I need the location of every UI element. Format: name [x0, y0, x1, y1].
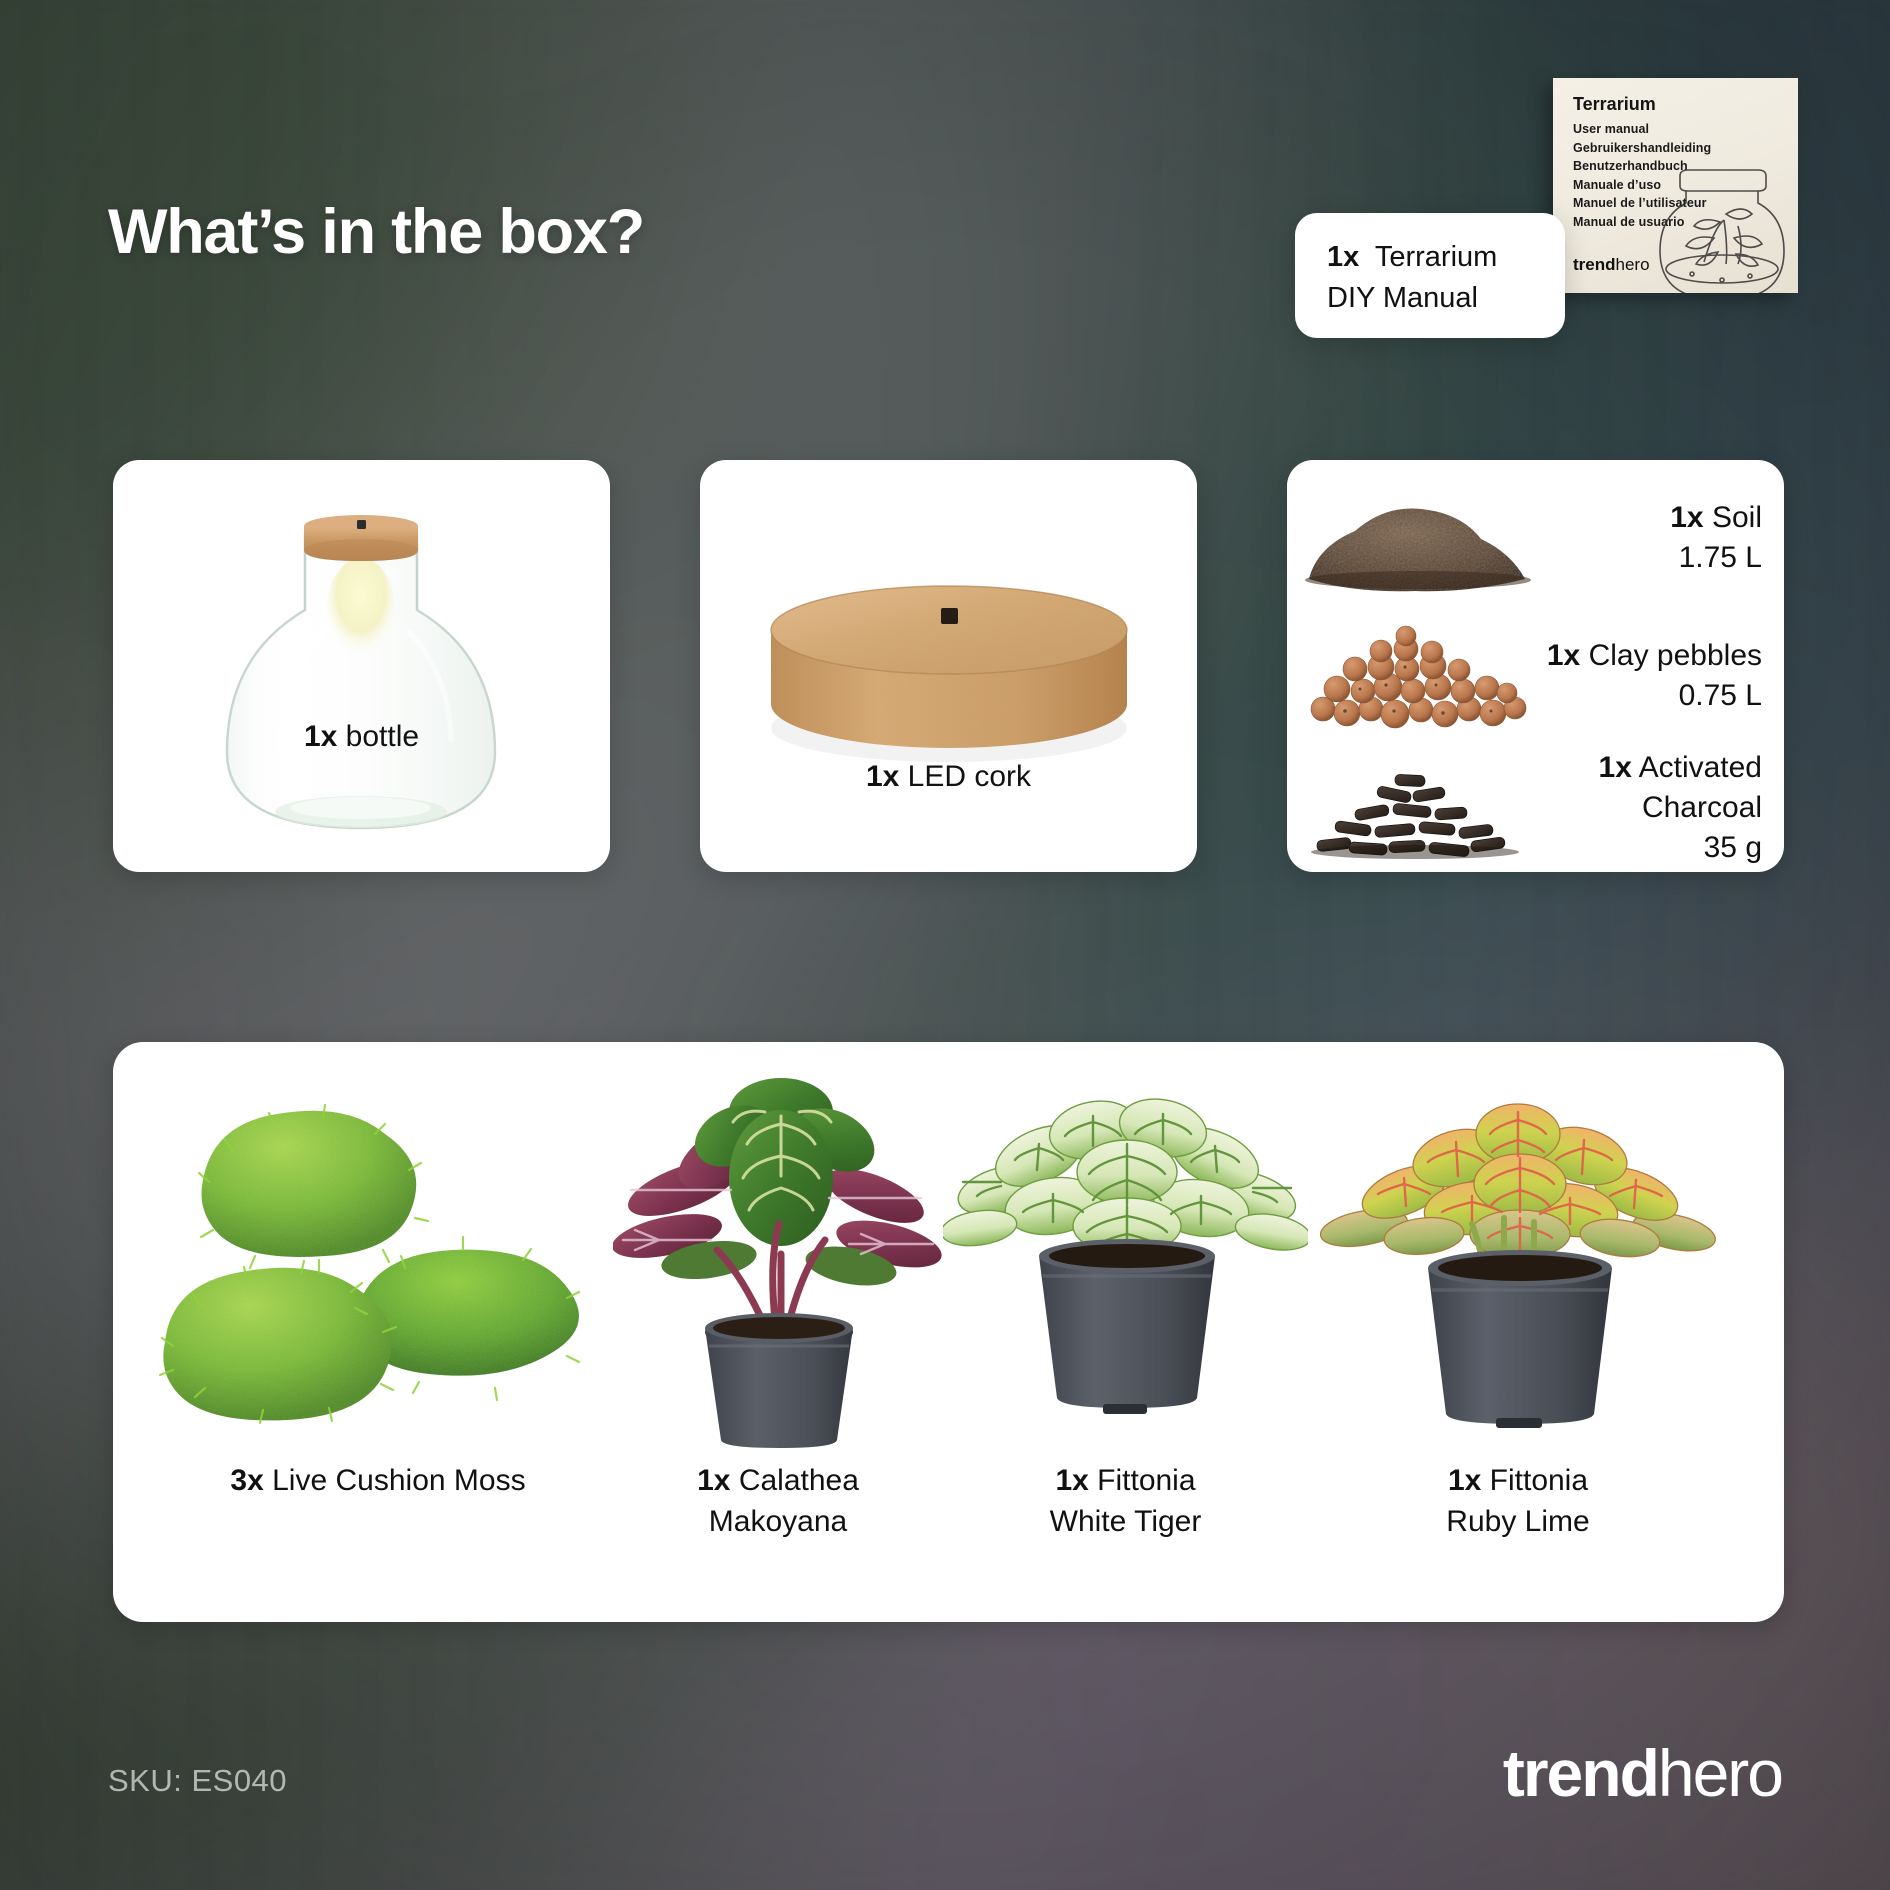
clay-name: Clay pebbles: [1589, 639, 1762, 672]
media-row: 1x Soil 1.75 L: [1287, 474, 1784, 602]
fittonia-white-name-line1: Fittonia: [1097, 1464, 1195, 1497]
media-row: 1x Clay pebbles 0.75 L: [1287, 606, 1784, 746]
soil-qty: 1x: [1670, 501, 1703, 534]
led-cork-card: 1x LED cork: [700, 460, 1197, 872]
bottle-label: 1x bottle: [113, 716, 610, 758]
led-cork-qty: 1x: [866, 760, 899, 793]
infographic-canvas: What’s in the box? Terrarium User manual…: [0, 0, 1890, 1890]
soil-label: 1x Soil 1.75 L: [1543, 498, 1784, 578]
manual-label: 1x Terrarium DIY Manual: [1327, 237, 1497, 319]
brand-logo-light: hero: [1658, 1736, 1782, 1810]
soil-amount: 1.75 L: [1543, 538, 1762, 578]
plant-item-fittonia-ruby: 1x Fittonia Ruby Lime: [1308, 1042, 1728, 1622]
booklet-brand-bold: trend: [1573, 255, 1616, 274]
growing-media-card: 1x Soil 1.75 L: [1287, 460, 1784, 872]
fittonia-ruby-name-line1: Fittonia: [1490, 1464, 1588, 1497]
booklet-title: Terrarium: [1573, 94, 1656, 115]
clay-pebbles-icon: [1293, 621, 1543, 731]
booklet-brand-logo: trendhero: [1573, 255, 1650, 275]
manual-label-card: 1x Terrarium DIY Manual: [1295, 213, 1565, 338]
fittonia-ruby-qty: 1x: [1448, 1464, 1481, 1497]
bottle-qty: 1x: [304, 720, 337, 753]
calathea-icon: [613, 1060, 943, 1450]
charcoal-qty: 1x: [1599, 751, 1632, 784]
fittonia-white-qty: 1x: [1055, 1464, 1088, 1497]
moss-name: Live Cushion Moss: [272, 1464, 525, 1497]
moss-icon: [143, 1060, 613, 1450]
plant-item-fittonia-white: 1x Fittonia White Tiger: [943, 1042, 1308, 1622]
plants-card: 3x Live Cushion Moss: [113, 1042, 1784, 1622]
led-cork-name: LED cork: [908, 760, 1031, 793]
fittonia-white-name-line2: White Tiger: [943, 1501, 1308, 1542]
clay-amount: 0.75 L: [1543, 676, 1762, 716]
terrarium-jar-line-art-icon: [1642, 134, 1798, 293]
led-cork-icon: [700, 460, 1197, 872]
calathea-label: 1x Calathea Makoyana: [613, 1460, 943, 1543]
calathea-name-line1: Calathea: [739, 1464, 859, 1497]
moss-qty: 3x: [230, 1464, 263, 1497]
clay-qty: 1x: [1547, 639, 1580, 672]
bottle-card: 1x bottle: [113, 460, 610, 872]
fittonia-ruby-icon: [1308, 1060, 1728, 1450]
calathea-name-line2: Makoyana: [613, 1501, 943, 1542]
brand-logo-bold: trend: [1503, 1736, 1658, 1810]
bottle-name: bottle: [346, 720, 419, 753]
manual-name-line2: DIY Manual: [1327, 282, 1478, 314]
fittonia-ruby-name-line2: Ruby Lime: [1308, 1501, 1728, 1542]
manual-name-line1: Terrarium: [1375, 241, 1497, 273]
sku-text: SKU: ES040: [108, 1763, 287, 1799]
led-cork-label: 1x LED cork: [700, 756, 1197, 798]
charcoal-label: 1x Activated Charcoal 35 g: [1543, 748, 1784, 868]
charcoal-name: Activated Charcoal: [1639, 751, 1762, 824]
fittonia-white-icon: [943, 1060, 1308, 1450]
soil-pile-icon: [1293, 483, 1543, 593]
manual-booklet-image: Terrarium User manual Gebruikershandleid…: [1553, 78, 1798, 293]
fittonia-ruby-label: 1x Fittonia Ruby Lime: [1308, 1460, 1728, 1543]
moss-label: 3x Live Cushion Moss: [143, 1460, 613, 1501]
glass-bottle-icon: [113, 460, 610, 872]
plant-item-calathea: 1x Calathea Makoyana: [613, 1042, 943, 1622]
clay-label: 1x Clay pebbles 0.75 L: [1543, 636, 1784, 716]
fittonia-white-label: 1x Fittonia White Tiger: [943, 1460, 1308, 1543]
brand-logo: trendhero: [1503, 1740, 1782, 1806]
charcoal-pile-icon: [1293, 753, 1543, 863]
media-row: 1x Activated Charcoal 35 g: [1287, 746, 1784, 870]
charcoal-amount: 35 g: [1543, 828, 1762, 868]
page-title: What’s in the box?: [108, 196, 644, 268]
calathea-qty: 1x: [697, 1464, 730, 1497]
soil-name: Soil: [1712, 501, 1762, 534]
manual-qty: 1x: [1327, 241, 1359, 273]
plant-item-moss: 3x Live Cushion Moss: [143, 1042, 613, 1622]
